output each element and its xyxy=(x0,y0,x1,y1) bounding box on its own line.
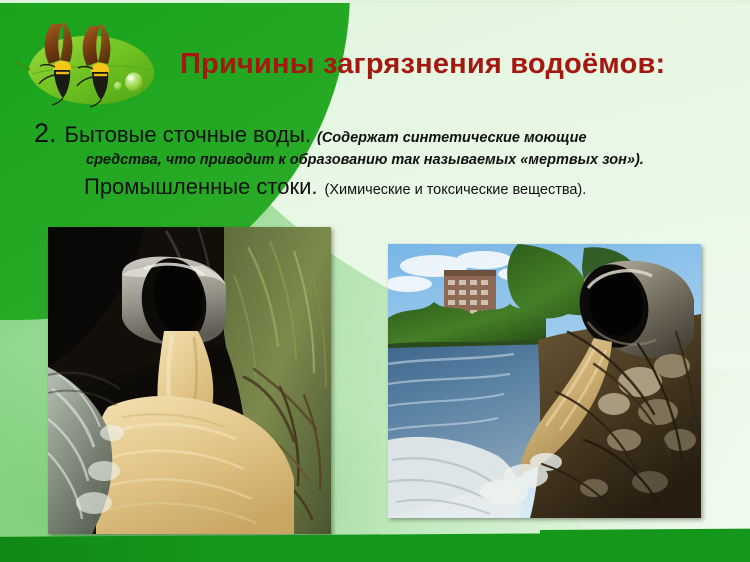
item-heading-domestic: Бытовые сточные воды. xyxy=(65,122,311,148)
photo-river-outfall-svg xyxy=(388,244,701,518)
bees-on-leaf-svg xyxy=(16,18,168,114)
photo-pipe-discharge xyxy=(48,227,331,534)
item-heading-industrial: Промышленные стоки. xyxy=(84,174,318,200)
bees-on-leaf-icon xyxy=(16,18,168,114)
top-edge-strip xyxy=(0,0,750,3)
item-number: 2. xyxy=(34,118,57,149)
photo-river-outfall xyxy=(388,244,701,518)
slide-body: 2. Бытовые сточные воды. (Содержат синте… xyxy=(34,118,722,200)
list-item-industrial: Промышленные стоки. (Химические и токсич… xyxy=(84,174,722,200)
item-note-domestic-line1: (Содержат синтетические моющие xyxy=(317,130,587,146)
slide-title: Причины загрязнения водоёмов: xyxy=(180,48,700,81)
list-item-2: 2. Бытовые сточные воды. (Содержат синте… xyxy=(34,118,722,149)
dewdrop xyxy=(125,73,143,92)
item-note-industrial: (Химические и токсические вещества). xyxy=(325,182,587,198)
photo-pipe-discharge-svg xyxy=(48,227,331,534)
slide-canvas: Причины загрязнения водоёмов: 2. Бытовые… xyxy=(0,0,750,562)
item-note-domestic-line2: средства, что приводит к образованию так… xyxy=(86,152,722,168)
